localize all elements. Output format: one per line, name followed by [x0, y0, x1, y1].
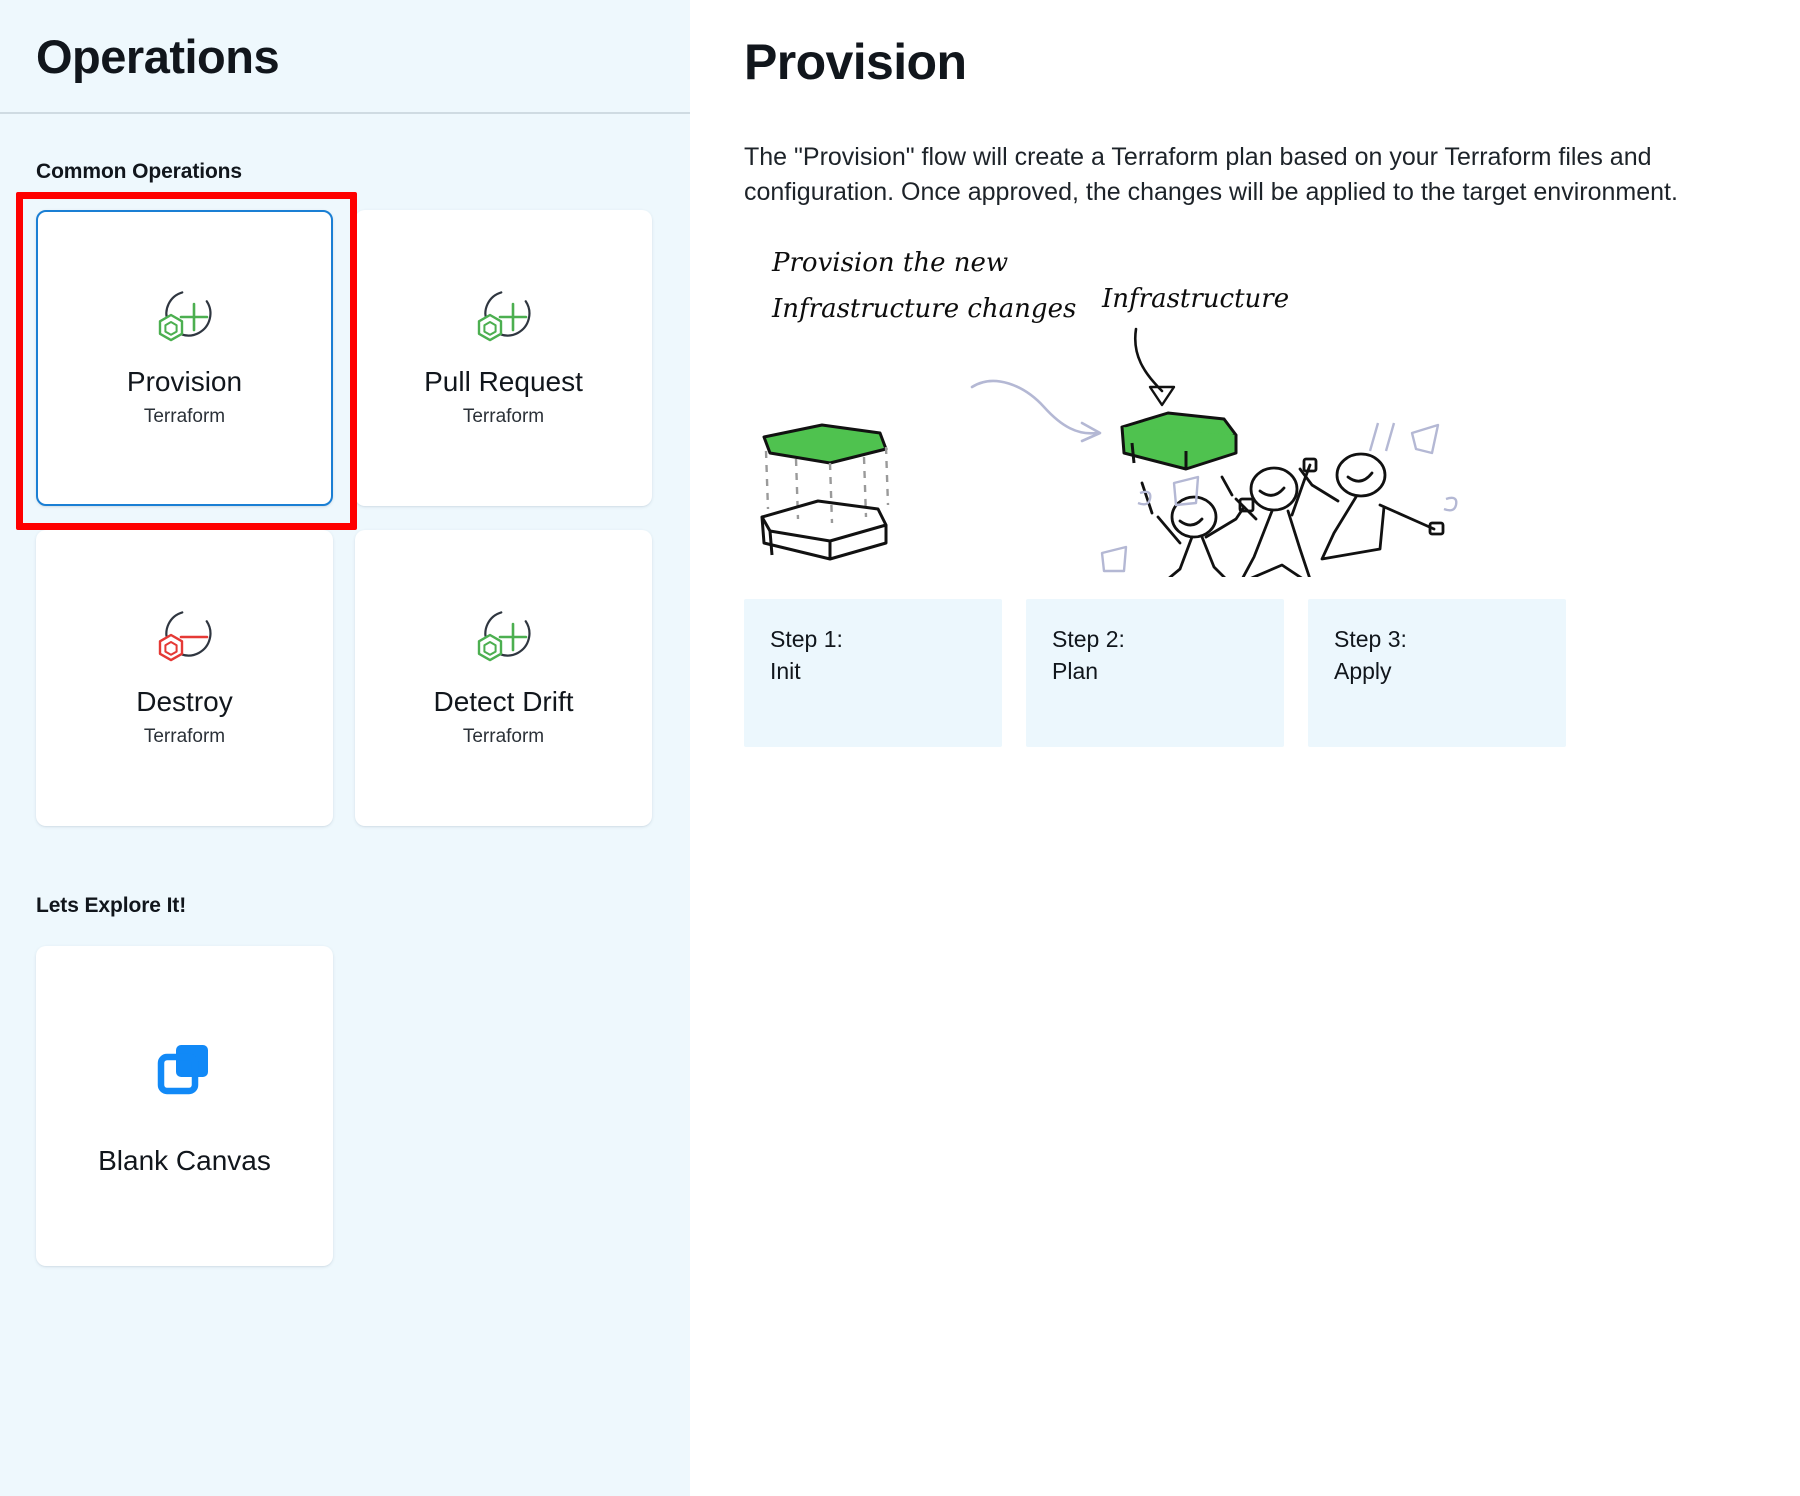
illustration-svg: Provision the new Infrastructure changes…	[744, 237, 1574, 577]
illustration-caption-left-line1: Provision the new	[771, 248, 1008, 278]
operation-card-title: Provision	[127, 366, 242, 398]
step-box-2: Step 2: Plan	[1026, 599, 1284, 747]
step-label: Step 1:	[770, 623, 976, 656]
section-label-lets-explore-it: Lets Explore It!	[36, 894, 654, 918]
step-box-3: Step 3: Apply	[1308, 599, 1566, 747]
annotation-highlight-rectangle	[16, 192, 357, 530]
operation-card-subtitle: Terraform	[144, 406, 225, 428]
operation-card-title: Detect Drift	[433, 686, 573, 718]
circle-plus-hexagon-icon	[468, 608, 540, 674]
layers-square-icon	[152, 1035, 218, 1101]
operation-card-provision[interactable]: Provision Terraform	[36, 210, 333, 506]
circle-minus-hexagon-icon	[149, 608, 221, 674]
illustration-caption-left-line2: Infrastructure changes	[771, 294, 1076, 324]
sidebar-body: Common Operations Provision Terraf	[0, 160, 690, 1266]
circle-plus-hexagon-icon	[468, 288, 540, 354]
provision-flow-illustration: Provision the new Infrastructure changes…	[744, 237, 1574, 577]
section-label-common-operations: Common Operations	[36, 160, 654, 184]
step-name: Plan	[1052, 655, 1258, 688]
detail-panel: Provision The "Provision" flow will crea…	[690, 0, 1800, 1496]
operation-card-subtitle: Terraform	[463, 406, 544, 428]
operation-card-subtitle: Terraform	[463, 726, 544, 748]
detail-description: The "Provision" flow will create a Terra…	[744, 140, 1746, 211]
operations-sidebar: Operations Common Operations	[0, 0, 690, 1496]
steps-row: Step 1: Init Step 2: Plan Step 3: Apply	[744, 599, 1746, 747]
circle-plus-hexagon-icon	[149, 288, 221, 354]
step-box-1: Step 1: Init	[744, 599, 1002, 747]
common-operations-grid: Provision Terraform Pull Request T	[36, 210, 654, 826]
sidebar-divider	[0, 112, 690, 114]
operation-card-title: Destroy	[136, 686, 232, 718]
step-label: Step 3:	[1334, 623, 1540, 656]
step-name: Apply	[1334, 655, 1540, 688]
page-title: Operations	[36, 30, 654, 84]
operation-card-subtitle: Terraform	[144, 726, 225, 748]
app-root: Operations Common Operations	[0, 0, 1800, 1496]
step-label: Step 2:	[1052, 623, 1258, 656]
operation-card-pull-request[interactable]: Pull Request Terraform	[355, 210, 652, 506]
operation-card-title: Pull Request	[424, 366, 583, 398]
detail-title: Provision	[744, 34, 1746, 92]
step-name: Init	[770, 655, 976, 688]
operation-card-detect-drift[interactable]: Detect Drift Terraform	[355, 530, 652, 826]
operation-card-blank-canvas[interactable]: Blank Canvas	[36, 946, 333, 1266]
sidebar-header: Operations	[0, 0, 690, 112]
illustration-caption-right: Infrastructure	[1101, 284, 1289, 314]
operation-card-title: Blank Canvas	[98, 1145, 271, 1177]
operation-card-destroy[interactable]: Destroy Terraform	[36, 530, 333, 826]
